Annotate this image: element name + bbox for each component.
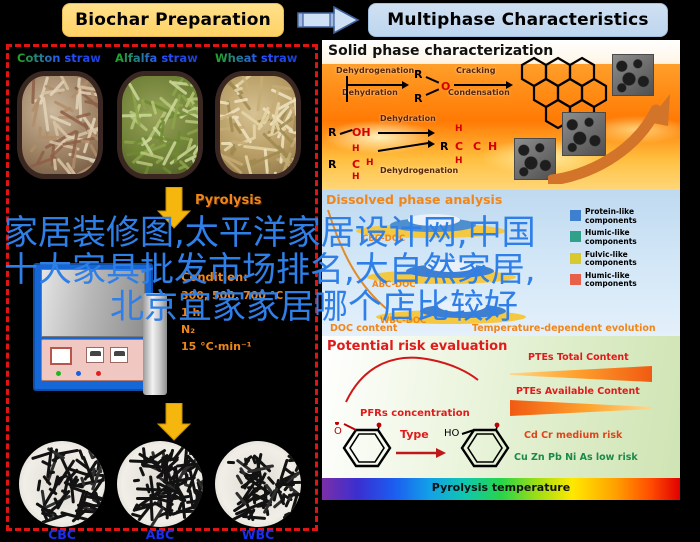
medium-risk-metals-label: Cd Cr medium risk <box>524 430 622 441</box>
pfr-concentration-label: PFRs concentration <box>360 408 470 419</box>
header-biochar-preparation: Biochar Preparation <box>62 3 284 37</box>
type-transform-label: Type <box>400 428 429 441</box>
feedstock-label-alfalfa: Alfalfa straw <box>115 51 198 65</box>
doc-content-axis-label: DOC content <box>330 323 397 334</box>
atom-O-1: O <box>441 80 450 93</box>
atom-C-1: C <box>352 158 360 171</box>
atom-R-2: R <box>414 92 422 105</box>
feedstock-photo-wheat <box>215 71 301 179</box>
atom-R-1: R <box>414 68 422 81</box>
graphical-abstract: Biochar Preparation Multiphase Character… <box>0 0 700 537</box>
pyrolysis-label: Pyrolysis <box>195 193 261 208</box>
legend-item-protein-like: Protein-like components <box>570 208 676 225</box>
svg-text:HO: HO <box>444 428 460 439</box>
ptes-total-content-label: PTEs Total Content <box>528 352 629 363</box>
legend-swatch-protein-like <box>570 210 581 221</box>
dissolved-phase-legend: Protein-like components Humic-like compo… <box>570 208 676 293</box>
pyrolysis-temperature-gradient-bar: Pyrolysis temperature <box>322 478 680 500</box>
feedstock-photo-alfalfa <box>117 71 203 179</box>
atom-H-2: H <box>352 172 360 182</box>
quartz-tube <box>143 293 167 395</box>
solid-phase-section: Solid phase characterization Dehydrogena… <box>322 40 680 190</box>
atom-R-3: R <box>328 126 336 139</box>
condition-atmosphere: N₂ <box>181 321 311 338</box>
legend-swatch-humic-like-2 <box>570 274 581 285</box>
pfr-curve <box>342 350 502 410</box>
legend-label-humic-like-2: Humic-like components <box>585 272 676 289</box>
atom-R-5: R <box>440 140 448 153</box>
atom-C-2: C <box>455 140 463 153</box>
atom-H-1: H <box>352 144 360 154</box>
feedstock-label-cotton: Cotton straw <box>17 51 101 65</box>
atom-OH-1: OH <box>352 126 371 139</box>
tube-furnace-illustration <box>33 263 153 391</box>
pyrolysis-conditions: Condition: 300, 500, 700 °C 1 h N₂ 15 °C… <box>181 269 311 355</box>
atom-H-4: H <box>488 140 497 153</box>
condition-duration: 1 h <box>181 304 311 321</box>
multiphase-characteristics-panel: Solid phase characterization Dehydrogena… <box>322 40 694 534</box>
porous-carbon-cube-3 <box>612 54 654 96</box>
reaction-label-dehydration-2: Dehydration <box>380 114 436 123</box>
temperature-evolution-axis-label: Temperature-dependent evolution <box>472 323 656 334</box>
biochar-photo-abc <box>117 441 203 527</box>
feedstock-labels: Cotton straw Alfalfa straw Wheat straw <box>9 51 315 69</box>
type-arrow-icon <box>396 444 446 463</box>
phenol-ring-radical-icon: HO <box>444 422 524 476</box>
legend-label-humic-like-1: Humic-like components <box>585 229 676 246</box>
right-arrow-icon <box>294 6 362 34</box>
product-label-abc: ABC <box>117 527 203 542</box>
reaction-label-dehydrogenation-2: Dehydrogenation <box>380 166 458 175</box>
feedstock-photo-cotton <box>17 71 103 179</box>
condition-ramp-rate: 15 °C·min⁻¹ <box>181 338 311 355</box>
biochar-photo-wbc <box>215 441 301 527</box>
curved-progress-arrow-icon <box>548 92 678 188</box>
legend-item-humic-like-1: Humic-like components <box>570 229 676 246</box>
biochar-preparation-panel: Cotton straw Alfalfa straw Wheat straw P… <box>6 44 318 531</box>
legend-swatch-fulvic-like <box>570 253 581 264</box>
benzene-ring-radical-icon: O <box>332 422 402 476</box>
atom-H-3: H <box>366 158 374 168</box>
svg-text:O: O <box>334 426 342 437</box>
atom-C-3: C <box>473 140 481 153</box>
doc-label-cbc: CBC-DOC <box>362 234 405 244</box>
product-arrow-down-icon <box>157 403 191 441</box>
product-label-wbc: WBC <box>215 527 301 542</box>
biochar-products-row: CBC ABC WBC <box>9 441 315 533</box>
reaction-label-cracking: Cracking <box>456 66 495 75</box>
dissolved-phase-section: Dissolved phase analysis CBC-DOC ABC-DOC <box>322 190 680 336</box>
biochar-photo-cbc <box>19 441 105 527</box>
legend-swatch-humic-like-1 <box>570 231 581 242</box>
ptes-available-trend-wedge <box>510 400 652 416</box>
feedstock-label-wheat: Wheat straw <box>215 51 297 65</box>
ptes-available-content-label: PTEs Available Content <box>516 386 640 397</box>
atom-H-6: H <box>455 156 463 166</box>
doc-label-abc: ABC-DOC <box>372 280 416 290</box>
atom-R-4: R <box>328 158 336 171</box>
reaction-label-dehydration-1: Dehydration <box>342 88 398 97</box>
reaction-label-condensation: Condensation <box>448 88 510 97</box>
low-risk-metals-label: Cu Zn Pb Ni As low risk <box>514 452 638 463</box>
product-label-cbc: CBC <box>19 527 105 542</box>
pyrolysis-temperature-label: Pyrolysis temperature <box>322 481 680 494</box>
legend-item-fulvic-like: Fulvic-like components <box>570 251 676 268</box>
legend-label-fulvic-like: Fulvic-like components <box>585 251 676 268</box>
pyrolysis-arrow-down-icon <box>157 187 191 229</box>
reaction-label-dehydrogenation-1: Dehydrogenation <box>336 66 414 75</box>
header-bar: Biochar Preparation Multiphase Character… <box>0 0 700 40</box>
risk-evaluation-section: Potential risk evaluation PFRs concentra… <box>322 336 680 478</box>
atom-H-5: H <box>455 124 463 134</box>
legend-label-protein-like: Protein-like components <box>585 208 676 225</box>
conditions-title: Condition: <box>181 269 311 287</box>
legend-item-humic-like-2: Humic-like components <box>570 272 676 289</box>
condition-temperature: 300, 500, 700 °C <box>181 287 311 304</box>
header-multiphase-characteristics: Multiphase Characteristics <box>368 3 668 37</box>
ptes-total-trend-wedge <box>510 366 652 382</box>
